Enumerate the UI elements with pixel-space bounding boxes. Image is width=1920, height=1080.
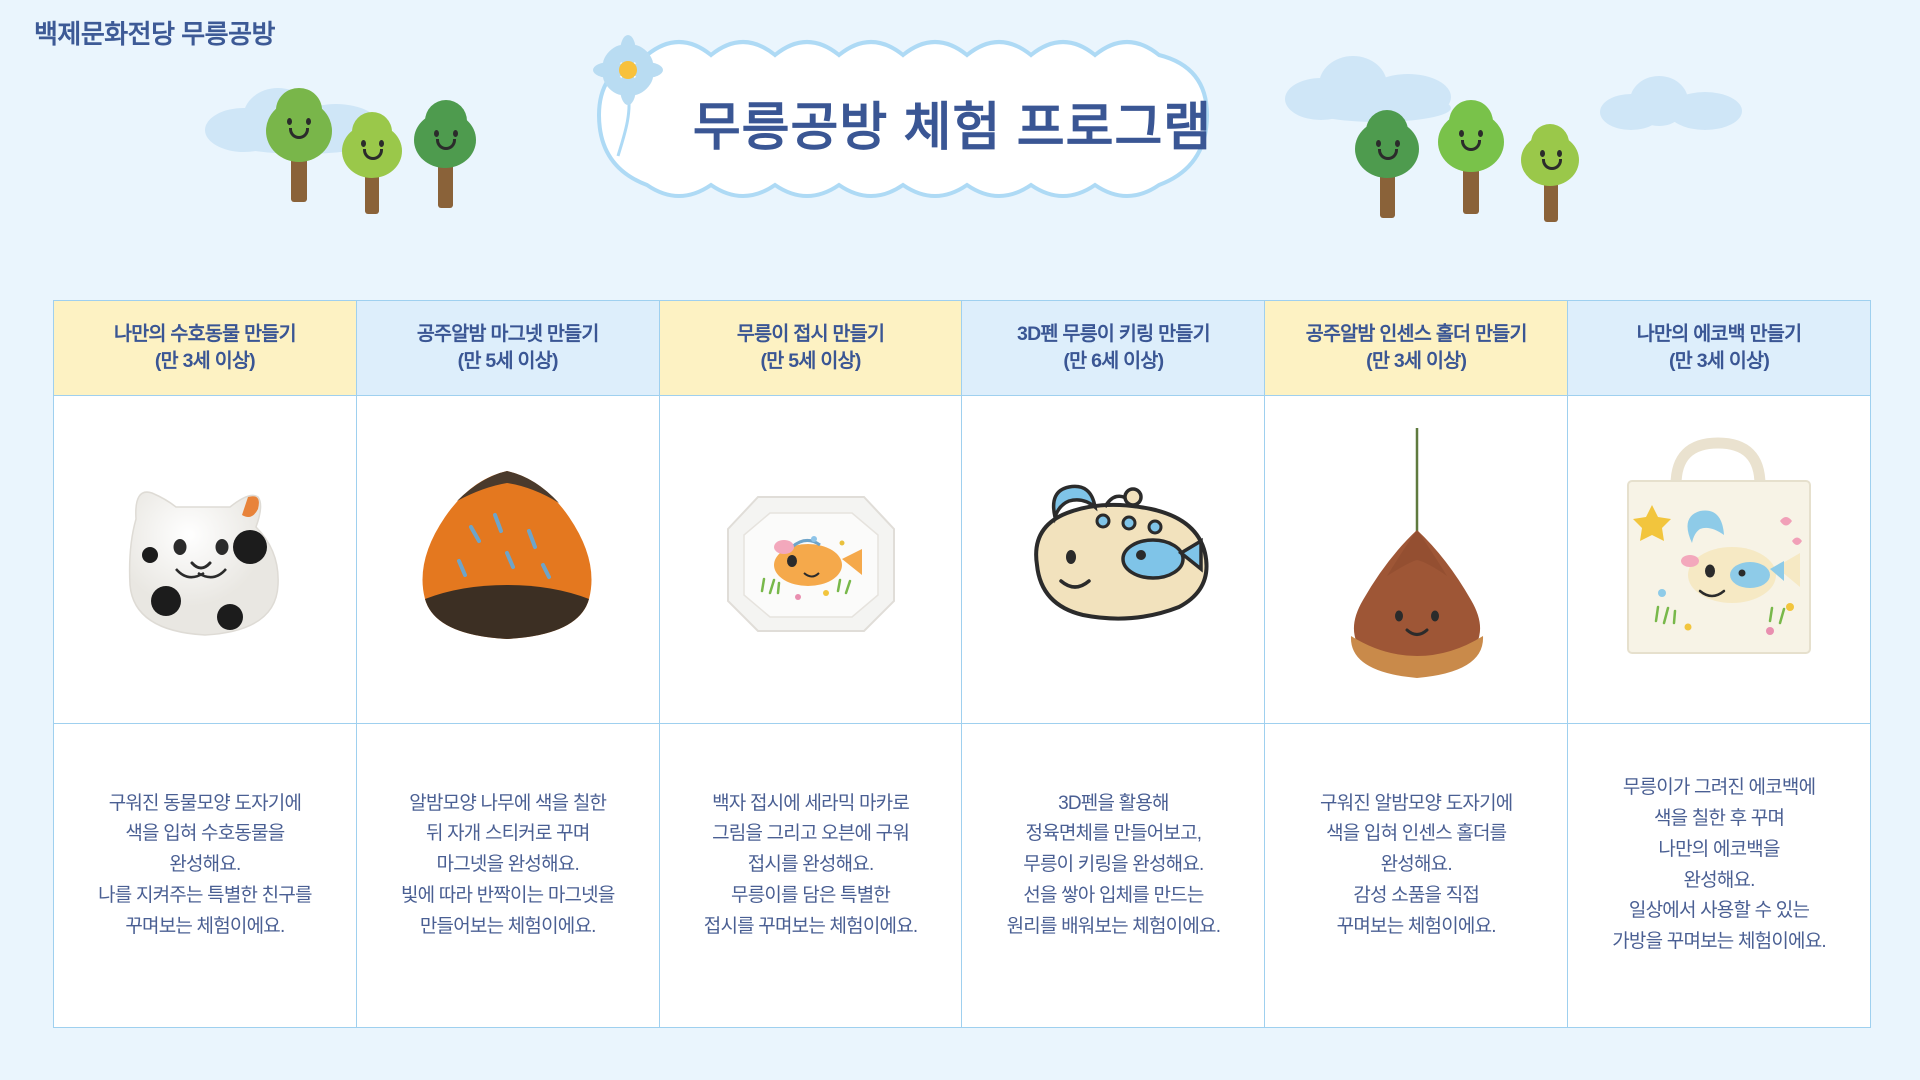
brand-label: 백제문화전당 무릉공방 [34,14,275,51]
program-age: (만 3세 이상) [155,348,255,375]
flower-icon [588,30,668,165]
painted-porcelain-plate-photo [686,435,936,685]
program-image-cell [357,396,659,724]
tree-eye [434,130,439,137]
program-header: 공주알밤 인센스 홀더 만들기 (만 3세 이상) [1265,301,1567,396]
tree-foliage [1449,100,1493,144]
tree-foliage [1531,124,1569,162]
program-column: 나만의 수호동물 만들기 (만 3세 이상) [54,301,357,1027]
tree-eye [1395,140,1400,147]
program-description-cell: 3D펜을 활용해 정육면체를 만들어보고, 무릉이 키링을 완성해요. 선을 쌓… [962,724,1264,1027]
program-image-cell [660,396,962,724]
program-column: 공주알밤 마그넷 만들기 (만 5세 이상) [357,301,660,1027]
banner-title: 무릉공방 체험 프로그램 [585,35,1320,210]
tree-eye [1459,130,1464,137]
tree-eye [361,140,366,147]
tree-foliage [276,88,322,132]
tree-foliage [425,100,467,142]
title-banner: 무릉공방 체험 프로그램 [585,35,1320,210]
program-age: (만 5세 이상) [458,348,558,375]
program-description-cell: 무릉이가 그려진 에코백에 색을 칠한 후 꾸며 나만의 에코백을 완성해요. … [1568,724,1870,1027]
3d-pen-fish-keyring-photo [983,435,1243,685]
program-column: 3D펜 무릉이 키링 만들기 (만 6세 이상) [962,301,1265,1027]
program-header: 공주알밤 마그넷 만들기 (만 5세 이상) [357,301,659,396]
program-description-cell: 구워진 알밤모양 도자기에 색을 입혀 인센스 홀더를 완성해요. 감성 소품을… [1265,724,1567,1027]
tree-eye [1478,130,1483,137]
tree-eye [379,140,384,147]
program-description-cell: 알밤모양 나무에 색을 칠한 뒤 자개 스티커로 꾸며 마그넷을 완성해요. 빛… [357,724,659,1027]
tree-eye [1376,140,1381,147]
program-age: (만 3세 이상) [1366,348,1466,375]
program-title: 공주알밤 인센스 홀더 만들기 [1306,321,1527,348]
program-description-cell: 구워진 동물모양 도자기에 색을 입혀 수호동물을 완성해요. 나를 지켜주는 … [54,724,356,1027]
program-column: 공주알밤 인센스 홀더 만들기 (만 3세 이상) 구워진 알밤모양 도자기에 … [1265,301,1568,1027]
program-age: (만 3세 이상) [1669,348,1769,375]
cloud-icon [1668,92,1742,130]
tree-eye [453,130,458,137]
tree-eye [1540,150,1545,157]
program-description: 백자 접시에 세라믹 마카로 그림을 그리고 오븐에 구워 접시를 완성해요. … [704,789,918,943]
program-title: 3D펜 무릉이 키링 만들기 [1017,321,1210,348]
program-age: (만 5세 이상) [761,348,861,375]
program-title: 나만의 수호동물 만들기 [114,321,296,348]
program-header: 나만의 수호동물 만들기 (만 3세 이상) [54,301,356,396]
program-image-cell [962,396,1264,724]
tree-eye [287,118,292,125]
tree-group-right [1348,100,1628,220]
program-header: 나만의 에코백 만들기 (만 3세 이상) [1568,301,1870,396]
program-title: 공주알밤 마그넷 만들기 [417,321,599,348]
program-age: (만 6세 이상) [1063,348,1163,375]
tree-foliage [1366,110,1408,152]
tree-foliage [352,112,392,152]
program-description: 무릉이가 그려진 에코백에 색을 칠한 후 꾸며 나만의 에코백을 완성해요. … [1612,773,1826,958]
program-column: 나만의 에코백 만들기 (만 3세 이상) [1568,301,1870,1027]
program-header: 3D펜 무릉이 키링 만들기 (만 6세 이상) [962,301,1264,396]
program-title: 나만의 에코백 만들기 [1637,321,1802,348]
program-description: 구워진 알밤모양 도자기에 색을 입혀 인센스 홀더를 완성해요. 감성 소품을… [1320,789,1512,943]
program-table: 나만의 수호동물 만들기 (만 3세 이상) [53,300,1871,1028]
printed-eco-bag-photo [1584,425,1854,695]
poster-canvas: 백제문화전당 무릉공방 무릉공방 체험 프로그램 [0,0,1920,1080]
program-description: 3D펜을 활용해 정육면체를 만들어보고, 무릉이 키링을 완성해요. 선을 쌓… [1007,789,1221,943]
program-image-cell [54,396,356,724]
program-description-cell: 백자 접시에 세라믹 마카로 그림을 그리고 오븐에 구워 접시를 완성해요. … [660,724,962,1027]
program-column: 무릉이 접시 만들기 (만 5세 이상) [660,301,963,1027]
program-header: 무릉이 접시 만들기 (만 5세 이상) [660,301,962,396]
tree-eye [1557,150,1562,157]
program-description: 구워진 동물모양 도자기에 색을 입혀 수호동물을 완성해요. 나를 지켜주는 … [98,789,312,943]
chestnut-magnet-photo [383,435,633,685]
program-image-cell [1265,396,1567,724]
chestnut-incense-holder-photo [1291,420,1541,700]
tree-group-left [258,88,508,208]
program-title: 무릉이 접시 만들기 [737,321,884,348]
program-image-cell [1568,396,1870,724]
program-description: 알밤모양 나무에 색을 칠한 뒤 자개 스티커로 꾸며 마그넷을 완성해요. 빛… [401,789,615,943]
ceramic-animal-figure-photo [80,435,330,685]
tree-eye [306,118,311,125]
